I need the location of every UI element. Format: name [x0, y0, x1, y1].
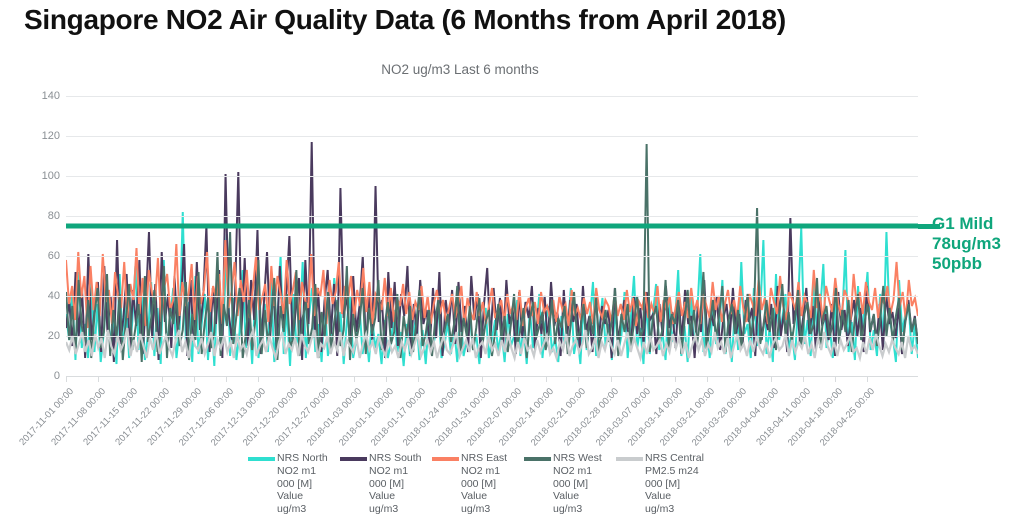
x-axis-tick: [418, 377, 419, 382]
x-axis-tick-label: 2018-04-04 00:00: [718, 386, 781, 452]
x-axis-tick: [322, 377, 323, 382]
chart-legend: NRS NorthNO2 m1000 [M]Valueug/m3NRS Sout…: [248, 452, 948, 518]
x-axis-tick-label: 2018-01-24 00:00: [398, 386, 461, 452]
plot-wrap: 2017-11-01 00:002017-11-08 00:002017-11-…: [0, 0, 1024, 521]
legend-label-line: NRS North: [277, 452, 328, 465]
legend-label-line: ug/m3: [277, 503, 328, 516]
legend-label: NRS SouthNO2 m1000 [M]Valueug/m3: [369, 452, 422, 516]
x-axis-tick-label: 2018-03-07 00:00: [590, 386, 653, 452]
x-axis-tick-label: 2017-12-20 00:00: [238, 386, 301, 452]
x-axis-tick: [707, 377, 708, 382]
legend-label-line: NO2 m1: [461, 465, 507, 478]
legend-label-line: NRS Central: [645, 452, 704, 465]
x-axis-tick-label: 2018-01-03 00:00: [302, 386, 365, 452]
x-axis-tick: [771, 377, 772, 382]
legend-item-nrs-central[interactable]: NRS CentralPM2.5 m24000 [M]Valueug/m3: [616, 452, 708, 518]
x-axis-tick-label: 2018-04-18 00:00: [782, 386, 845, 452]
legend-label-line: NO2 m1: [277, 465, 328, 478]
legend-color-swatch: [524, 457, 551, 461]
legend-label-line: NRS South: [369, 452, 422, 465]
legend-label: NRS EastNO2 m1000 [M]Valueug/m3: [461, 452, 507, 516]
x-axis-tick-label: 2017-11-01 00:00: [13, 386, 76, 452]
legend-item-nrs-east[interactable]: NRS EastNO2 m1000 [M]Valueug/m3: [432, 452, 524, 518]
x-axis-tick-label: 2018-03-28 00:00: [686, 386, 749, 452]
x-axis-tick: [578, 377, 579, 382]
legend-label-line: 000 [M]: [277, 478, 328, 491]
x-axis-tick: [611, 377, 612, 382]
legend-label-line: 000 [M]: [553, 478, 602, 491]
legend-color-swatch: [432, 457, 459, 461]
legend-label-line: ug/m3: [645, 503, 704, 516]
legend-label-line: PM2.5 m24: [645, 465, 704, 478]
legend-label-line: Value: [461, 490, 507, 503]
legend-label-line: NO2 m1: [369, 465, 422, 478]
legend-color-swatch: [340, 457, 367, 461]
x-axis-tick-label: 2018-02-14 00:00: [494, 386, 557, 452]
x-axis-tick-label: 2017-11-22 00:00: [110, 386, 173, 452]
legend-label-line: Value: [553, 490, 602, 503]
legend-label-line: 000 [M]: [461, 478, 507, 491]
legend-label-line: NRS West: [553, 452, 602, 465]
x-axis-tick-label: 2017-11-15 00:00: [77, 386, 140, 452]
x-axis-tick-label: 2017-12-27 00:00: [270, 386, 333, 452]
x-axis-tick-label: 2017-11-08 00:00: [45, 386, 108, 452]
legend-label-line: Value: [277, 490, 328, 503]
x-axis-tick-label: 2018-02-28 00:00: [558, 386, 621, 452]
x-axis-tick-label: 2017-11-29 00:00: [142, 386, 205, 452]
x-axis-tick-label: 2018-03-14 00:00: [622, 386, 685, 452]
x-axis-tick: [482, 377, 483, 382]
chart-page: Singapore NO2 Air Quality Data (6 Months…: [0, 0, 1024, 521]
legend-label: NRS CentralPM2.5 m24000 [M]Valueug/m3: [645, 452, 704, 516]
legend-label-line: ug/m3: [461, 503, 507, 516]
x-axis-tick: [546, 377, 547, 382]
x-axis-tick: [66, 377, 67, 382]
legend-color-swatch: [248, 457, 275, 461]
x-axis-tick: [226, 377, 227, 382]
x-axis-tick-label: 2018-01-10 00:00: [334, 386, 397, 452]
x-axis-tick-label: 2018-04-11 00:00: [750, 386, 813, 452]
legend-label-line: Value: [645, 490, 704, 503]
threshold-annotation: G1 Mild 78ug/m3 50pbb: [932, 214, 1001, 274]
x-axis-tick: [675, 377, 676, 382]
legend-label-line: ug/m3: [369, 503, 422, 516]
legend-item-nrs-south[interactable]: NRS SouthNO2 m1000 [M]Valueug/m3: [340, 452, 432, 518]
x-axis-tick: [130, 377, 131, 382]
x-axis-tick-label: 2018-02-07 00:00: [462, 386, 525, 452]
legend-item-nrs-west[interactable]: NRS WestNO2 m1000 [M]Valueug/m3: [524, 452, 616, 518]
x-axis-tick: [290, 377, 291, 382]
x-axis-tick-label: 2018-01-17 00:00: [366, 386, 429, 452]
legend-label-line: NRS East: [461, 452, 507, 465]
x-axis-tick: [386, 377, 387, 382]
legend-item-nrs-north[interactable]: NRS NorthNO2 m1000 [M]Valueug/m3: [248, 452, 340, 518]
x-axis-tick: [514, 377, 515, 382]
x-axis-tick-label: 2018-02-21 00:00: [526, 386, 589, 452]
legend-label-line: Value: [369, 490, 422, 503]
legend-label-line: 000 [M]: [645, 478, 704, 491]
legend-label: NRS NorthNO2 m1000 [M]Valueug/m3: [277, 452, 328, 516]
threshold-line1: G1 Mild: [932, 214, 1001, 234]
threshold-line2: 78ug/m3: [932, 234, 1001, 254]
x-axis-tick: [643, 377, 644, 382]
x-axis-tick: [98, 377, 99, 382]
legend-label: NRS WestNO2 m1000 [M]Valueug/m3: [553, 452, 602, 516]
x-axis-tick-label: 2017-12-13 00:00: [206, 386, 269, 452]
x-axis-tick: [258, 377, 259, 382]
x-axis-labels: 2017-11-01 00:002017-11-08 00:002017-11-…: [0, 0, 1024, 521]
x-axis-tick-label: 2018-04-25 00:00: [814, 386, 877, 452]
legend-label-line: 000 [M]: [369, 478, 422, 491]
legend-label-line: ug/m3: [553, 503, 602, 516]
x-axis-tick-label: 2018-03-21 00:00: [654, 386, 717, 452]
x-axis-tick: [450, 377, 451, 382]
legend-label-line: NO2 m1: [553, 465, 602, 478]
x-axis-tick: [803, 377, 804, 382]
x-axis-tick: [354, 377, 355, 382]
x-axis-tick: [739, 377, 740, 382]
x-axis-tick-label: 2018-01-31 00:00: [430, 386, 493, 452]
x-axis-tick: [194, 377, 195, 382]
x-axis-tick: [867, 377, 868, 382]
threshold-line3: 50pbb: [932, 254, 1001, 274]
legend-color-swatch: [616, 457, 643, 461]
x-axis-tick: [162, 377, 163, 382]
x-axis-tick-label: 2017-12-06 00:00: [174, 386, 237, 452]
x-axis-tick: [835, 377, 836, 382]
